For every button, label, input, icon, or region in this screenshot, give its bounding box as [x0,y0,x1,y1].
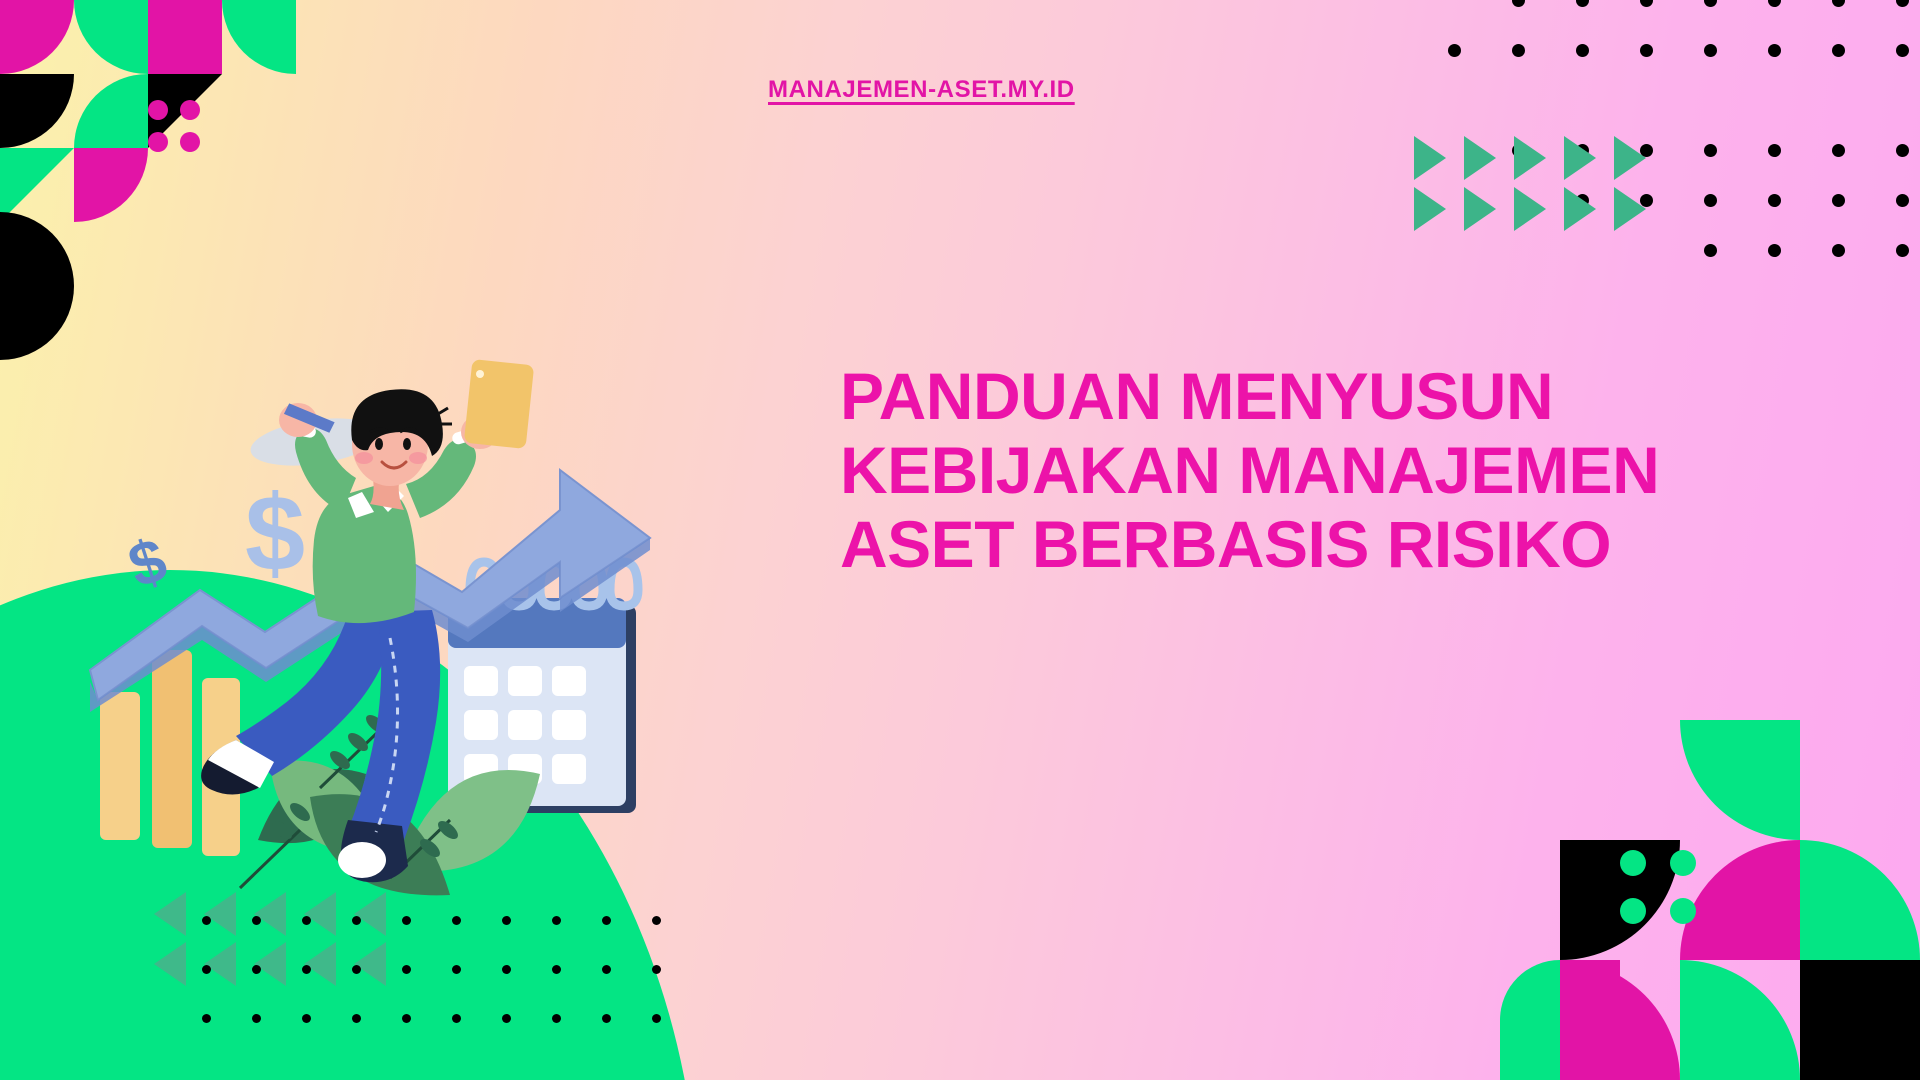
play-triangle-icon [1564,136,1596,180]
play-triangle-icon [1514,136,1546,180]
pattern-dot [202,965,211,974]
mosaic-shape [0,0,74,74]
pattern-dot [1768,194,1781,207]
play-triangle-icon [1564,187,1596,231]
pattern-dot [252,965,261,974]
pattern-dot [1704,0,1717,7]
pattern-dot [1896,144,1909,157]
svg-text:$: $ [121,525,175,601]
pattern-dot [1704,144,1717,157]
pattern-dot [202,1014,211,1023]
pattern-dot [302,965,311,974]
pattern-dot [1832,144,1845,157]
pattern-dot [1640,0,1653,7]
play-triangle-icon [204,942,236,986]
poster-headline: PANDUAN MENYUSUN KEBIJAKAN MANAJEMEN ASE… [840,360,1720,582]
mosaic-dot [180,132,200,152]
pattern-dot [652,1014,661,1023]
pattern-dot [552,965,561,974]
pattern-dot [352,965,361,974]
pattern-dot [452,1014,461,1023]
pattern-dot [1768,244,1781,257]
pattern-dot [402,965,411,974]
poster-canvas: MANAJEMEN-ASET.MY.ID PANDUAN MENYUSUN KE… [0,0,1920,1080]
pattern-dot [1896,0,1909,7]
mosaic-shape [0,74,74,148]
mosaic-dot [1670,898,1696,924]
pattern-dot [302,1014,311,1023]
play-triangle-icon [1464,187,1496,231]
mosaic-dot [180,100,200,120]
pattern-dot [1896,194,1909,207]
mosaic-shape [74,148,148,222]
mosaic-shape [74,74,148,148]
mosaic-shape [148,0,222,74]
pattern-dot [252,1014,261,1023]
pattern-dot [1832,0,1845,7]
pattern-dot [402,1014,411,1023]
mosaic-dot [148,132,168,152]
pattern-dot [1832,244,1845,257]
mosaic-shape [1680,720,1800,840]
pattern-dot [502,1014,511,1023]
pattern-dot [1704,194,1717,207]
play-triangle-icon [1464,136,1496,180]
pattern-dot [1448,44,1461,57]
pattern-dot [1576,0,1589,7]
mosaic-shape [1560,960,1620,1080]
pattern-dot [452,965,461,974]
pattern-dot [1512,0,1525,7]
top-right-pattern [1360,0,1920,300]
site-url-link[interactable]: MANAJEMEN-ASET.MY.ID [768,76,1075,104]
play-triangle-icon [1414,136,1446,180]
pattern-dot [602,1014,611,1023]
pattern-dot [1896,244,1909,257]
pattern-dot [652,965,661,974]
play-triangle-icon [354,942,386,986]
mosaic-dot [1670,850,1696,876]
pattern-dot [1704,44,1717,57]
pattern-dot [552,1014,561,1023]
play-triangle-icon [254,942,286,986]
mosaic-shape [0,148,74,222]
mosaic-dot [148,100,168,120]
pattern-dot [1832,194,1845,207]
mosaic-dot [1620,898,1646,924]
hero-illustration: $ $ [90,400,700,940]
pattern-dot [352,1014,361,1023]
play-triangle-icon [1614,136,1646,180]
play-triangle-icon [1514,187,1546,231]
pattern-dot [1768,44,1781,57]
mosaic-dot [1620,850,1646,876]
pattern-dot [1896,44,1909,57]
dollar-sign-icon: $ $ [121,472,305,602]
mosaic-shape [1680,960,1800,1080]
pattern-dot [1512,44,1525,57]
mosaic-shape [1800,960,1920,1080]
mosaic-shape [222,0,296,74]
pattern-dot [1832,44,1845,57]
mosaic-shape [1680,840,1800,960]
pattern-dot [1576,44,1589,57]
pattern-dot [1704,244,1717,257]
pattern-dot [602,965,611,974]
pattern-dot [1768,0,1781,7]
svg-text:$: $ [245,472,305,593]
play-triangle-icon [1414,187,1446,231]
mosaic-shape [1800,840,1920,960]
play-triangle-icon [154,942,186,986]
bottom-right-mosaic [1560,720,1920,1080]
pattern-dot [502,965,511,974]
pattern-dot [1768,144,1781,157]
pattern-dot [1640,44,1653,57]
play-triangle-icon [304,942,336,986]
play-triangle-icon [1614,187,1646,231]
